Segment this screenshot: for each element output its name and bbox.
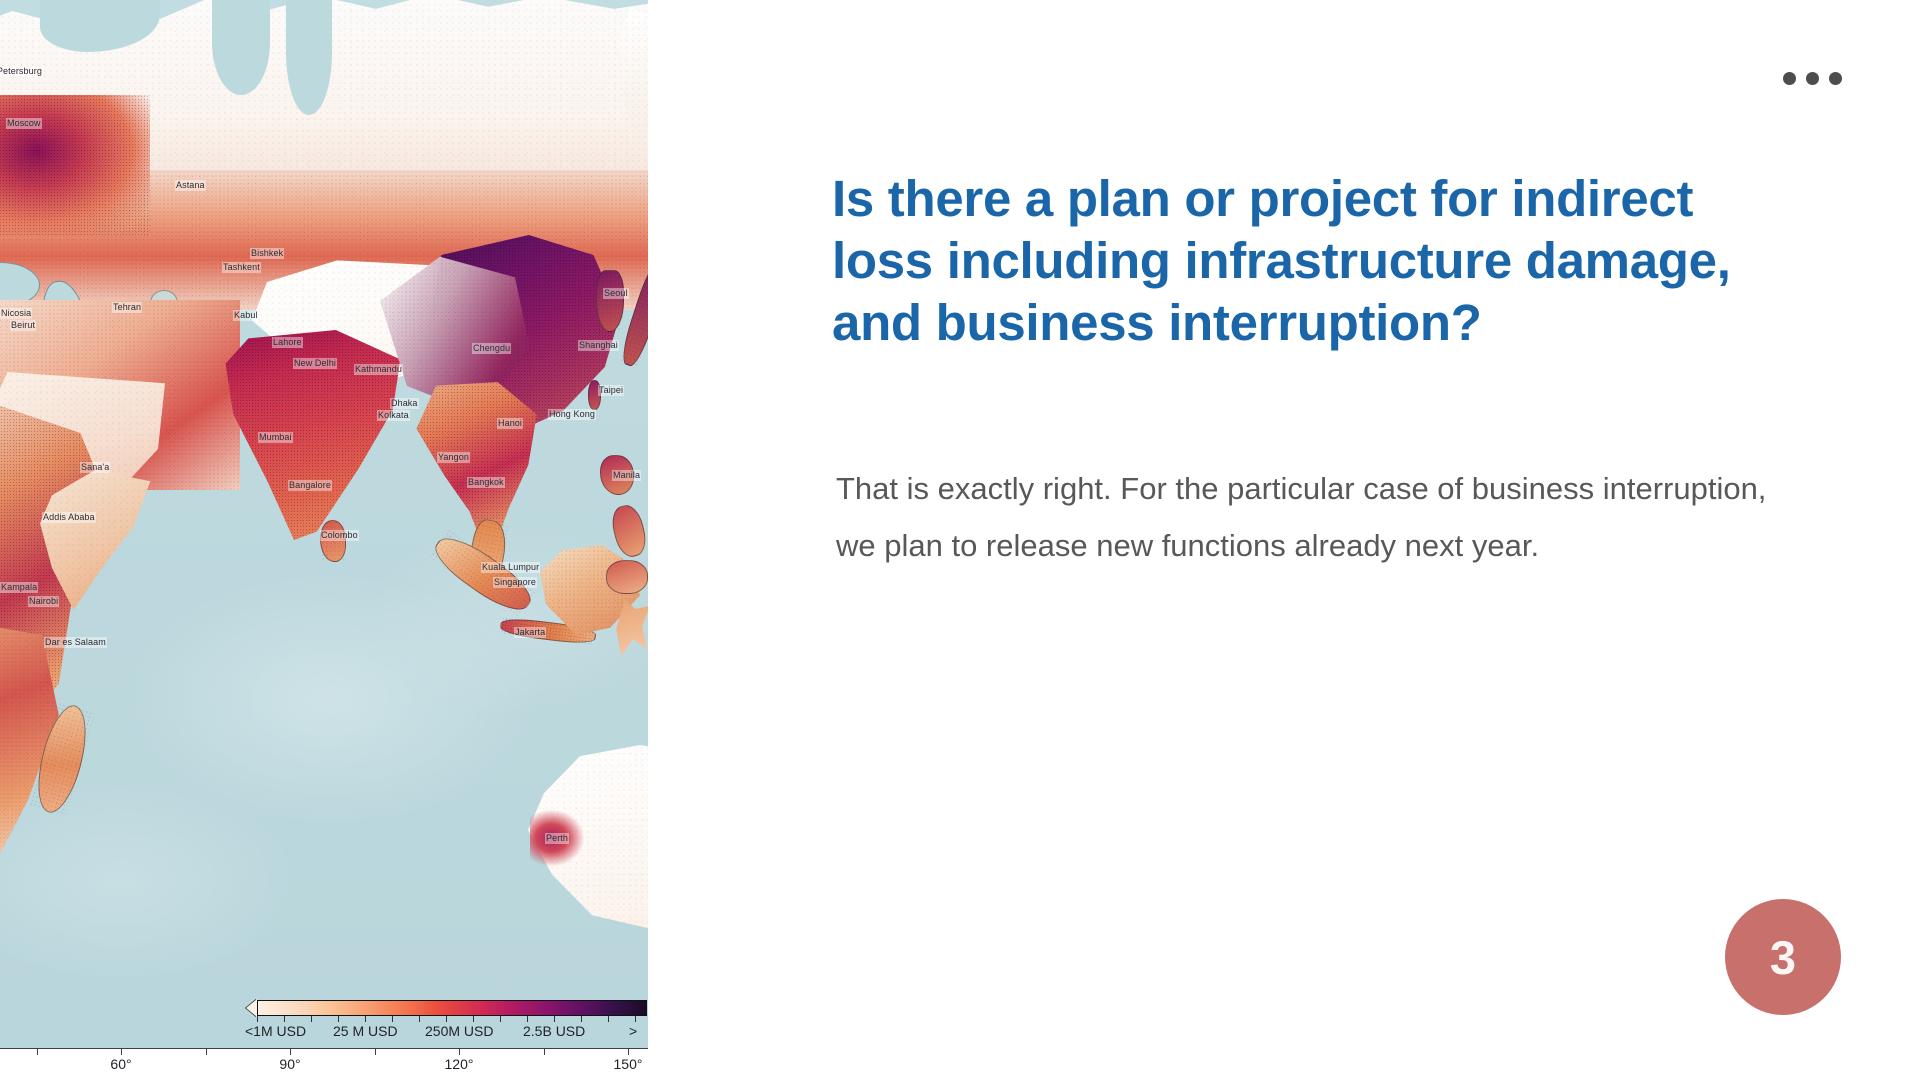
city-label: Kampala xyxy=(0,582,38,593)
city-label: Mumbai xyxy=(258,432,293,443)
menu-dot xyxy=(1783,72,1796,85)
city-label: Hong Kong xyxy=(548,409,596,420)
landmass-korea xyxy=(596,270,624,332)
raster-speckle xyxy=(597,271,623,331)
city-label: Shanghai xyxy=(578,340,619,351)
legend-colorbar xyxy=(257,1000,647,1016)
city-label: Singapore xyxy=(493,577,537,588)
legend-label: 2.5B USD xyxy=(523,1023,585,1039)
answer-text: That is exactly right. For the particula… xyxy=(836,460,1776,574)
city-label: Jakarta xyxy=(514,627,546,638)
city-label: Dar es Salaam xyxy=(44,637,107,648)
legend-label: <1M USD xyxy=(245,1023,306,1039)
city-label: Yangon xyxy=(437,452,470,463)
longitude-tick-label: 120° xyxy=(445,1056,474,1072)
menu-dot xyxy=(1829,72,1842,85)
city-label: Kuala Lumpur xyxy=(481,562,540,573)
city-label: Addis Ababa xyxy=(42,512,96,523)
legend-label: 25 M USD xyxy=(333,1023,398,1039)
legend-ticks xyxy=(257,1016,647,1022)
city-label: Colombo xyxy=(320,530,359,541)
city-label: Chengdu xyxy=(472,343,511,354)
page-title: Is there a plan or project for indirect … xyxy=(832,168,1772,354)
landmass-sri-lanka xyxy=(320,520,346,562)
slide-root: Moscow St. Petersburg Astana Bishkek Tas… xyxy=(0,0,1920,1080)
hotspot-moscow xyxy=(0,95,150,235)
city-label: Taipei xyxy=(598,385,624,396)
city-label: Manila xyxy=(612,470,641,481)
city-label: Bishkek xyxy=(250,248,284,259)
city-label: Nairobi xyxy=(28,596,59,607)
longitude-axis: 60° 90° 120° 150° xyxy=(0,1048,648,1080)
map-panel[interactable]: Moscow St. Petersburg Astana Bishkek Tas… xyxy=(0,0,648,1080)
city-label: Tashkent xyxy=(222,262,261,273)
city-label: Dhaka xyxy=(390,398,419,409)
legend-labels: <1M USD 25 M USD 250M USD 2.5B USD > xyxy=(217,1023,648,1041)
kebab-menu-icon[interactable] xyxy=(1783,72,1842,85)
longitude-tick-label: 150° xyxy=(614,1056,643,1072)
raster-speckle xyxy=(321,521,345,561)
city-label: Seoul xyxy=(603,288,629,299)
city-label: Lahore xyxy=(272,337,303,348)
landmass-philippines-2 xyxy=(608,502,648,560)
city-label: Nicosia xyxy=(0,308,32,319)
map-legend: <1M USD 25 M USD 250M USD 2.5B USD > xyxy=(257,1000,647,1016)
city-label: New Delhi xyxy=(293,358,337,369)
content-panel: Is there a plan or project for indirect … xyxy=(648,0,1920,1080)
raster-speckle xyxy=(0,95,150,235)
city-label: Beirut xyxy=(10,320,36,331)
city-label: Hanoi xyxy=(497,418,523,429)
legend-label: 250M USD xyxy=(425,1023,493,1039)
city-label: Bangalore xyxy=(288,480,332,491)
menu-dot xyxy=(1806,72,1819,85)
city-label: Moscow xyxy=(6,118,42,129)
page-number-badge: 3 xyxy=(1725,899,1841,1015)
city-label: Perth xyxy=(545,833,569,844)
map-canvas[interactable]: Moscow St. Petersburg Astana Bishkek Tas… xyxy=(0,0,648,1048)
legend-low-arrow-icon xyxy=(246,999,257,1017)
city-label: St. Petersburg xyxy=(0,66,43,77)
longitude-tick-label: 90° xyxy=(279,1056,300,1072)
city-label: Bangkok xyxy=(467,477,505,488)
city-label: Kathmandu xyxy=(354,364,403,375)
city-label: Kabul xyxy=(233,310,259,321)
city-label: Astana xyxy=(175,180,206,191)
city-label: Sana'a xyxy=(80,462,110,473)
city-label: Kolkata xyxy=(377,410,410,421)
city-label: Tehran xyxy=(112,302,142,313)
landmass-philippines-3 xyxy=(606,560,648,594)
legend-label: > xyxy=(629,1023,637,1039)
longitude-tick-label: 60° xyxy=(110,1056,131,1072)
